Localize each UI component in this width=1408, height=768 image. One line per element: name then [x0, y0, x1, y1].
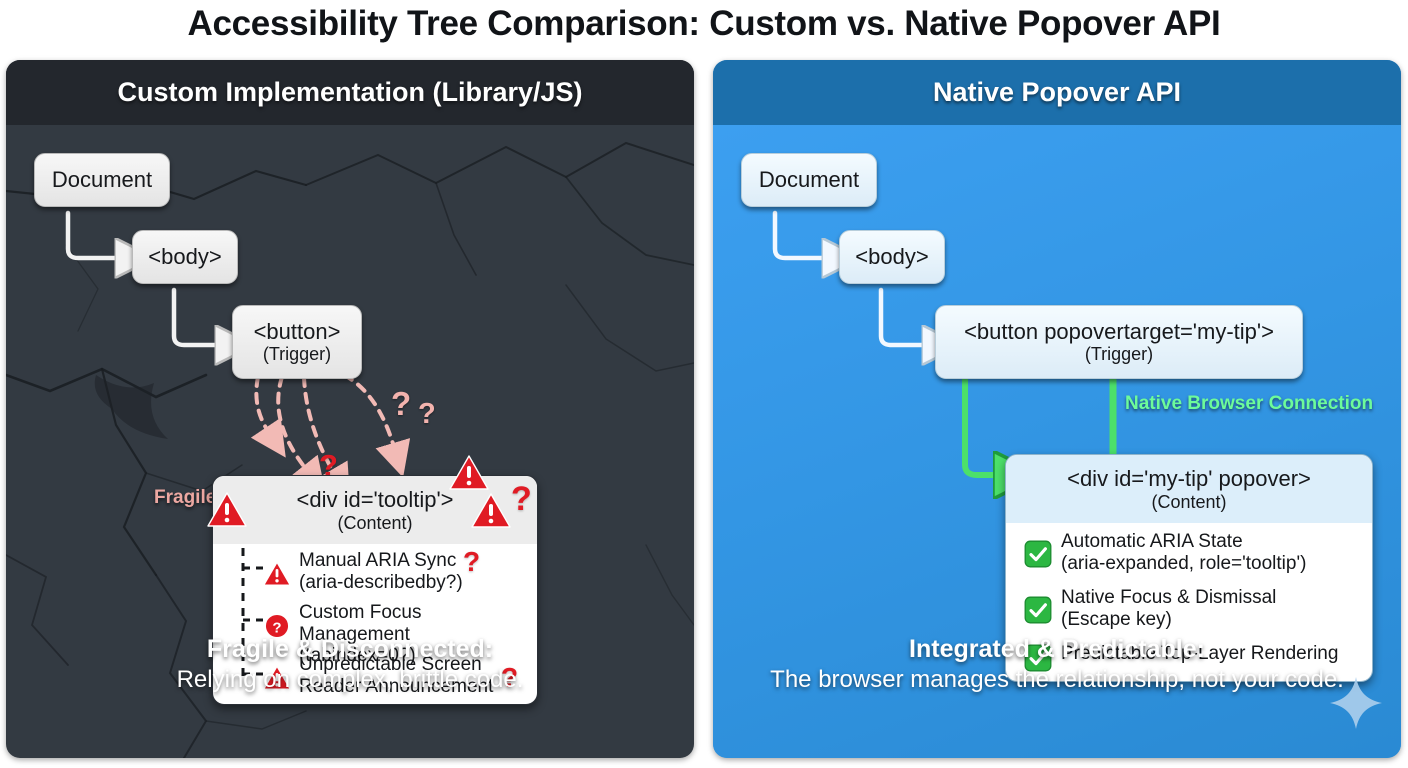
benefit-row[interactable]: Automatic ARIA State (aria-expanded, rol… [1024, 531, 1360, 574]
node-label: Document [759, 168, 859, 193]
issue-row[interactable]: Manual ARIA Sync (aria-describedby?) ? [263, 550, 529, 593]
panel-native-header: Native Popover API [713, 60, 1401, 125]
floating-question-mark-pink: ? [418, 400, 436, 429]
node-document-left[interactable]: Document [34, 153, 170, 207]
node-document-right[interactable]: Document [741, 153, 877, 207]
card-title: <div id='my-tip' popover> [1067, 466, 1311, 492]
node-button-left[interactable]: <button> (Trigger) [232, 305, 362, 379]
benefit-text: Native Focus & Dismissal (Escape key) [1061, 587, 1276, 630]
card-subtitle: (Content) [337, 513, 412, 534]
panel-native-body: Document <body> <button popovertarget='m… [713, 125, 1401, 758]
card-question-mark: ? [511, 482, 532, 516]
issue-line-2: (aria-describedby?) [299, 572, 463, 594]
node-label: <button popovertarget='my-tip'> [964, 320, 1274, 345]
issue-question-mark: ? [463, 548, 480, 576]
footer-custom: Fragile & Disconnected: Relying on compl… [6, 635, 694, 694]
panel-custom-body: Document <body> <button> (Trigger) Fragi… [6, 125, 694, 758]
benefit-row[interactable]: Native Focus & Dismissal (Escape key) [1024, 587, 1360, 630]
footer-native: Integrated & Predictable: The browser ma… [713, 635, 1401, 694]
card-subtitle: (Content) [1151, 492, 1226, 513]
native-browser-connection-label: Native Browser Connection [1125, 393, 1373, 415]
check-box-icon [1024, 596, 1052, 629]
node-label: <body> [148, 245, 221, 270]
benefit-line-2: (aria-expanded, role='tooltip') [1061, 553, 1306, 575]
footer-headline: Integrated & Predictable: [713, 635, 1401, 664]
card-tooltip-header: <div id='tooltip'> (Content) [213, 476, 537, 544]
panel-custom-implementation: Custom Implementation (Library/JS) [6, 60, 694, 758]
node-button-popovertarget[interactable]: <button popovertarget='my-tip'> (Trigger… [935, 305, 1303, 379]
svg-text:?: ? [272, 619, 281, 636]
issue-text: Manual ARIA Sync (aria-describedby?) [299, 550, 463, 593]
card-popover-header: <div id='my-tip' popover> (Content) [1006, 455, 1372, 523]
benefit-text: Automatic ARIA State (aria-expanded, rol… [1061, 531, 1306, 574]
benefit-line-1: Native Focus & Dismissal [1061, 587, 1276, 609]
benefit-line-2: (Escape key) [1061, 609, 1276, 631]
node-label: <button> [254, 320, 341, 345]
node-body-left[interactable]: <body> [132, 230, 238, 284]
node-sublabel: (Trigger) [263, 344, 331, 364]
footer-subline: Relying on complex, brittle code. [6, 666, 694, 694]
node-label: <body> [855, 245, 928, 270]
benefit-line-1: Automatic ARIA State [1061, 531, 1306, 553]
panel-native-popover: Native Popover API [713, 60, 1401, 758]
issue-line-1: Manual ARIA Sync [299, 550, 463, 572]
panel-custom-header: Custom Implementation (Library/JS) [6, 60, 694, 125]
page-title: Accessibility Tree Comparison: Custom vs… [0, 4, 1408, 44]
check-box-icon [1024, 540, 1052, 573]
warning-triangle-icon [263, 561, 291, 587]
node-body-right[interactable]: <body> [839, 230, 945, 284]
footer-subline: The browser manages the relationship, no… [713, 666, 1401, 694]
node-label: Document [52, 168, 152, 193]
footer-headline: Fragile & Disconnected: [6, 635, 694, 664]
floating-question-mark-pink: ? [391, 387, 411, 420]
node-sublabel: (Trigger) [1085, 344, 1153, 364]
infographic-canvas: Accessibility Tree Comparison: Custom vs… [0, 0, 1408, 768]
sparkle-icon [1327, 674, 1385, 732]
card-title: <div id='tooltip'> [296, 487, 453, 513]
